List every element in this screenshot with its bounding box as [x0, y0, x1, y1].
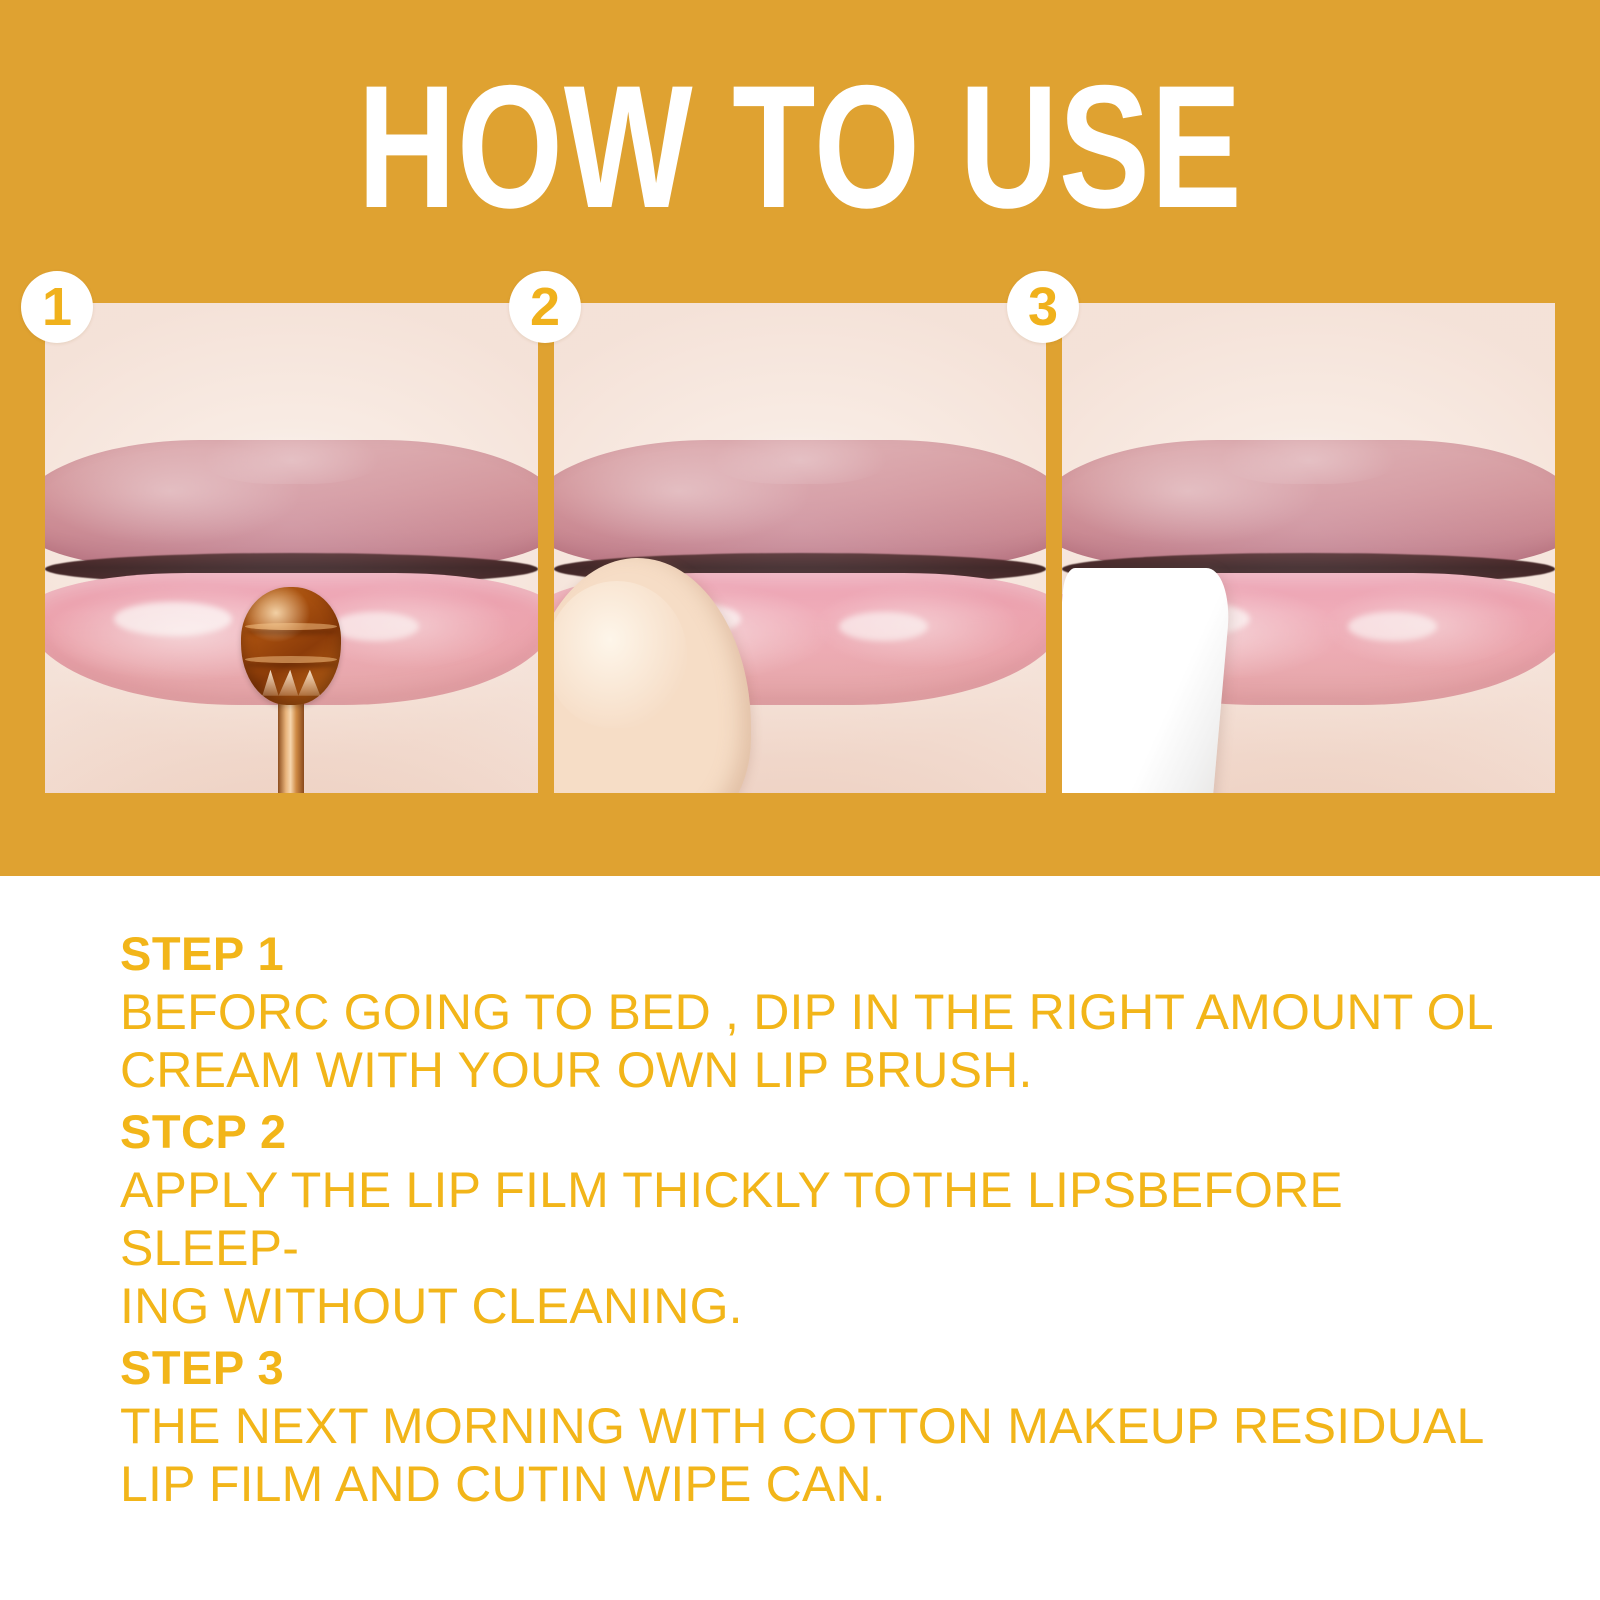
upper-lip: [1062, 440, 1555, 567]
step-badge-1: 1: [21, 271, 93, 343]
step-photo-1: [45, 303, 538, 793]
step-3-body: THE NEXT MORNING WITH COTTON MAKEUP RESI…: [120, 1397, 1510, 1513]
instructions-block: STEP 1 BEFORC GOING TO BED , DIP IN THE …: [120, 925, 1510, 1517]
step-2-body: APPLY THE LIP FILM THICKLY TOTHE LIPSBEF…: [120, 1161, 1510, 1335]
lip-gloss-highlight: [114, 602, 232, 636]
step-badge-2: 2: [509, 271, 581, 343]
fingernail: [554, 581, 688, 729]
lip-gloss-highlight: [839, 612, 928, 641]
step-item-1: STEP 1 BEFORC GOING TO BED , DIP IN THE …: [120, 925, 1510, 1099]
lips-scene-3: [1062, 303, 1555, 793]
applicator-stem: [278, 695, 304, 793]
photo-strip: [45, 303, 1555, 793]
lip-gloss-highlight: [1348, 612, 1437, 641]
upper-lip: [45, 440, 538, 567]
step-1-heading: STEP 1: [120, 925, 1510, 983]
cotton-pad-icon: [1062, 568, 1232, 793]
step-badge-3: 3: [1007, 271, 1079, 343]
step-item-3: STEP 3 THE NEXT MORNING WITH COTTON MAKE…: [120, 1339, 1510, 1513]
lip-gloss-highlight: [331, 612, 420, 641]
lip-brush-applicator-icon: [241, 587, 341, 705]
mouth-line: [45, 553, 538, 585]
step-3-heading: STEP 3: [120, 1339, 1510, 1397]
step-item-2: STCP 2 APPLY THE LIP FILM THICKLY TOTHE …: [120, 1103, 1510, 1335]
lips-scene-1: [45, 303, 538, 793]
step-1-body: BEFORC GOING TO BED , DIP IN THE RIGHT A…: [120, 983, 1510, 1099]
upper-lip: [554, 440, 1047, 567]
fingertip-icon: [554, 558, 751, 793]
step-photo-2: [554, 303, 1047, 793]
how-to-use-infographic: HOW TO USE: [0, 0, 1600, 1600]
applicator-notch: [262, 670, 320, 696]
step-2-heading: STCP 2: [120, 1103, 1510, 1161]
page-title: HOW TO USE: [176, 62, 1424, 234]
lips-scene-2: [554, 303, 1047, 793]
step-photo-3: [1062, 303, 1555, 793]
